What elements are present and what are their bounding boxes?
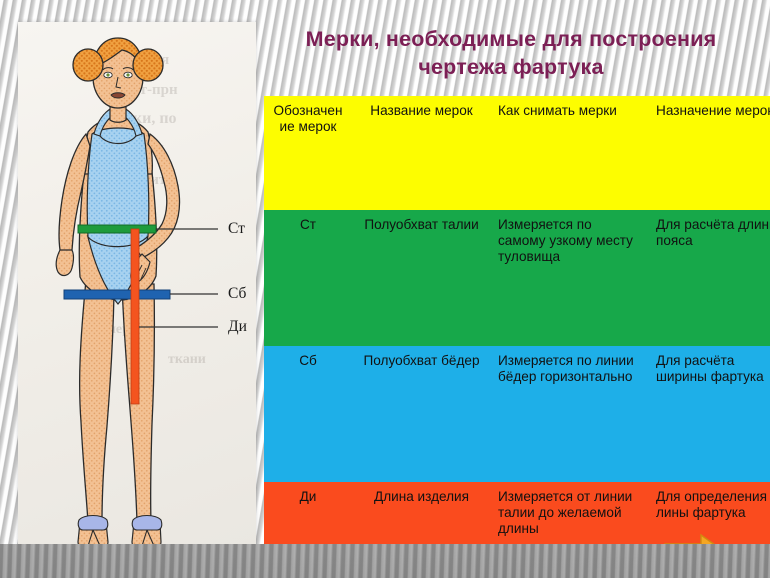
cell-symbol: Ст [264,210,351,346]
cell-name: Полуобхват бёдер [351,346,491,482]
column-header-how: Как снимать мерки [491,96,649,210]
length-line [131,229,139,404]
illustration-panel: — линия прит-прн мерки, по изделия постр… [18,22,256,552]
cell-purpose: Для расчёта длины пояса [649,210,770,346]
cell-symbol: Сб [264,346,351,482]
bottom-decoration-band [0,544,770,578]
table-header-row: Обозначение мерок Название мерок Как сни… [264,96,770,210]
table-row: Сб Полуобхват бёдер Измеряется по линии … [264,346,770,482]
cell-name: Полуобхват талии [351,210,491,346]
hip-line [64,290,170,299]
measurements-table: Обозначение мерок Название мерок Как сни… [264,96,770,578]
slide-canvas: Мерки, необходимые для построения чертеж… [0,0,770,578]
callout-sb-label: Сб [228,285,246,303]
column-header-purpose: Назначение мерок [649,96,770,210]
column-header-name: Название мерок [351,96,491,210]
page-title-line1: Мерки, необходимые для построения [306,27,717,51]
girl-figure-illustration [18,22,256,552]
cell-how: Измеряется по самому узкому месту тулови… [491,210,649,346]
callout-di-label: Ди [228,318,247,336]
page-title: Мерки, необходимые для построения чертеж… [255,26,767,82]
callout-st-label: Ст [228,220,245,238]
page-title-line2: чертежа фартука [418,55,603,79]
cell-how: Измеряется по линии бёдер горизонтально [491,346,649,482]
waist-line [78,225,156,233]
table-row: Ст Полуобхват талии Измеряется по самому… [264,210,770,346]
cell-purpose: Для расчёта ширины фартука [649,346,770,482]
column-header-symbol: Обозначение мерок [264,96,351,210]
